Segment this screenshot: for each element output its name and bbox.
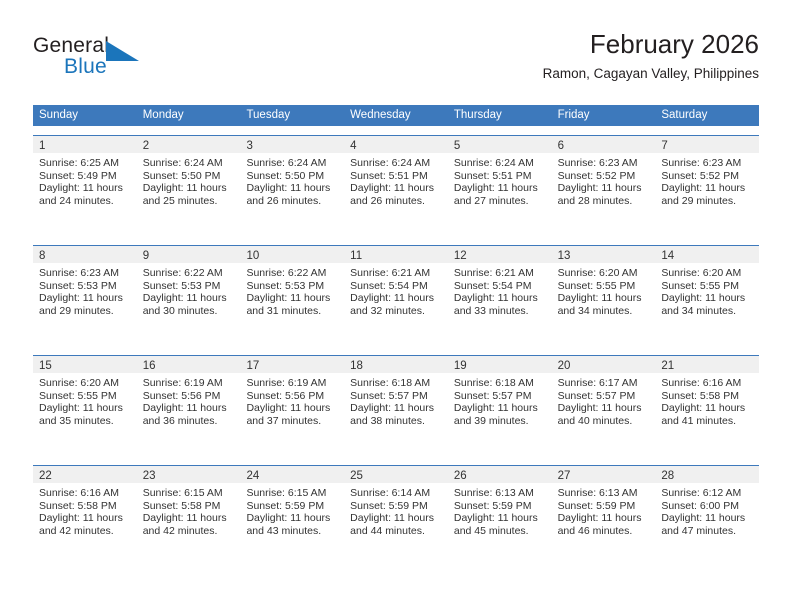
sunrise-text: Sunrise: 6:24 AM <box>246 157 336 170</box>
day-number: 10 <box>246 250 259 262</box>
sunrise-text: Sunrise: 6:19 AM <box>246 377 336 390</box>
title-block: February 2026 Ramon, Cagayan Valley, Phi… <box>543 28 759 84</box>
day-info: Sunrise: 6:20 AM Sunset: 5:55 PM Dayligh… <box>655 263 759 317</box>
day-number: 20 <box>558 360 571 372</box>
day-info: Sunrise: 6:21 AM Sunset: 5:54 PM Dayligh… <box>448 263 552 317</box>
daylight-text: Daylight: 11 hours and 26 minutes. <box>350 182 440 207</box>
sunrise-text: Sunrise: 6:24 AM <box>350 157 440 170</box>
sunset-text: Sunset: 5:51 PM <box>350 170 440 183</box>
calendar-grid: Sunday Monday Tuesday Wednesday Thursday… <box>33 105 759 566</box>
day-info: Sunrise: 6:24 AM Sunset: 5:50 PM Dayligh… <box>137 153 241 207</box>
sunset-text: Sunset: 5:55 PM <box>558 280 648 293</box>
daylight-text: Daylight: 11 hours and 26 minutes. <box>246 182 336 207</box>
sunset-text: Sunset: 5:58 PM <box>143 500 233 513</box>
sunrise-text: Sunrise: 6:19 AM <box>143 377 233 390</box>
sunset-text: Sunset: 5:54 PM <box>350 280 440 293</box>
daylight-text: Daylight: 11 hours and 25 minutes. <box>143 182 233 207</box>
day-number-band: 7 <box>655 136 759 153</box>
day-number-band: 17 <box>240 356 344 373</box>
day-info: Sunrise: 6:24 AM Sunset: 5:51 PM Dayligh… <box>344 153 448 207</box>
day-cell[interactable]: 1 Sunrise: 6:25 AM Sunset: 5:49 PM Dayli… <box>33 136 137 236</box>
weekday-header-tuesday: Tuesday <box>240 105 344 126</box>
day-number-band: 1 <box>33 136 137 153</box>
sunrise-text: Sunrise: 6:17 AM <box>558 377 648 390</box>
day-number-band: 21 <box>655 356 759 373</box>
day-cell[interactable]: 18 Sunrise: 6:18 AM Sunset: 5:57 PM Dayl… <box>344 356 448 456</box>
sunset-text: Sunset: 5:50 PM <box>246 170 336 183</box>
daylight-text: Daylight: 11 hours and 29 minutes. <box>39 292 129 317</box>
day-info: Sunrise: 6:23 AM Sunset: 5:52 PM Dayligh… <box>552 153 656 207</box>
day-info: Sunrise: 6:23 AM Sunset: 5:53 PM Dayligh… <box>33 263 137 317</box>
day-number: 27 <box>558 470 571 482</box>
sunrise-text: Sunrise: 6:24 AM <box>143 157 233 170</box>
daylight-text: Daylight: 11 hours and 46 minutes. <box>558 512 648 537</box>
sunrise-text: Sunrise: 6:23 AM <box>39 267 129 280</box>
daylight-text: Daylight: 11 hours and 43 minutes. <box>246 512 336 537</box>
sunrise-text: Sunrise: 6:20 AM <box>39 377 129 390</box>
day-number: 13 <box>558 250 571 262</box>
daylight-text: Daylight: 11 hours and 44 minutes. <box>350 512 440 537</box>
day-cell[interactable]: 2 Sunrise: 6:24 AM Sunset: 5:50 PM Dayli… <box>137 136 241 236</box>
day-number: 2 <box>143 140 149 152</box>
day-cell[interactable]: 23 Sunrise: 6:15 AM Sunset: 5:58 PM Dayl… <box>137 466 241 566</box>
weekday-header-friday: Friday <box>552 105 656 126</box>
day-number-band: 28 <box>655 466 759 483</box>
day-info: Sunrise: 6:23 AM Sunset: 5:52 PM Dayligh… <box>655 153 759 207</box>
day-cell[interactable]: 6 Sunrise: 6:23 AM Sunset: 5:52 PM Dayli… <box>552 136 656 236</box>
day-number-band: 8 <box>33 246 137 263</box>
day-number-band: 20 <box>552 356 656 373</box>
day-number-band: 26 <box>448 466 552 483</box>
daylight-text: Daylight: 11 hours and 30 minutes. <box>143 292 233 317</box>
sunrise-text: Sunrise: 6:25 AM <box>39 157 129 170</box>
day-cell[interactable]: 16 Sunrise: 6:19 AM Sunset: 5:56 PM Dayl… <box>137 356 241 456</box>
day-number: 18 <box>350 360 363 372</box>
weekday-header-monday: Monday <box>137 105 241 126</box>
sunset-text: Sunset: 5:53 PM <box>246 280 336 293</box>
sunset-text: Sunset: 5:57 PM <box>558 390 648 403</box>
day-cell[interactable]: 13 Sunrise: 6:20 AM Sunset: 5:55 PM Dayl… <box>552 246 656 346</box>
sunset-text: Sunset: 5:52 PM <box>558 170 648 183</box>
sunrise-text: Sunrise: 6:24 AM <box>454 157 544 170</box>
sunrise-text: Sunrise: 6:20 AM <box>558 267 648 280</box>
sunset-text: Sunset: 5:51 PM <box>454 170 544 183</box>
sunrise-text: Sunrise: 6:23 AM <box>558 157 648 170</box>
daylight-text: Daylight: 11 hours and 28 minutes. <box>558 182 648 207</box>
day-cell[interactable]: 3 Sunrise: 6:24 AM Sunset: 5:50 PM Dayli… <box>240 136 344 236</box>
day-number: 28 <box>661 470 674 482</box>
sunrise-text: Sunrise: 6:16 AM <box>39 487 129 500</box>
sunset-text: Sunset: 5:57 PM <box>350 390 440 403</box>
day-number-band: 3 <box>240 136 344 153</box>
day-number: 19 <box>454 360 467 372</box>
daylight-text: Daylight: 11 hours and 42 minutes. <box>143 512 233 537</box>
day-cell[interactable]: 22 Sunrise: 6:16 AM Sunset: 5:58 PM Dayl… <box>33 466 137 566</box>
daylight-text: Daylight: 11 hours and 33 minutes. <box>454 292 544 317</box>
sunset-text: Sunset: 5:58 PM <box>661 390 751 403</box>
calendar-week-row: 1 Sunrise: 6:25 AM Sunset: 5:49 PM Dayli… <box>33 135 759 236</box>
sunset-text: Sunset: 5:54 PM <box>454 280 544 293</box>
day-number: 8 <box>39 250 45 262</box>
day-number-band: 24 <box>240 466 344 483</box>
daylight-text: Daylight: 11 hours and 38 minutes. <box>350 402 440 427</box>
sunrise-text: Sunrise: 6:13 AM <box>454 487 544 500</box>
daylight-text: Daylight: 11 hours and 29 minutes. <box>661 182 751 207</box>
day-cell[interactable]: 20 Sunrise: 6:17 AM Sunset: 5:57 PM Dayl… <box>552 356 656 456</box>
day-info: Sunrise: 6:18 AM Sunset: 5:57 PM Dayligh… <box>344 373 448 427</box>
day-info: Sunrise: 6:17 AM Sunset: 5:57 PM Dayligh… <box>552 373 656 427</box>
day-cell[interactable]: 21 Sunrise: 6:16 AM Sunset: 5:58 PM Dayl… <box>655 356 759 456</box>
day-cell[interactable]: 7 Sunrise: 6:23 AM Sunset: 5:52 PM Dayli… <box>655 136 759 236</box>
day-number-band: 10 <box>240 246 344 263</box>
sunrise-text: Sunrise: 6:16 AM <box>661 377 751 390</box>
day-cell[interactable]: 28 Sunrise: 6:12 AM Sunset: 6:00 PM Dayl… <box>655 466 759 566</box>
day-info: Sunrise: 6:14 AM Sunset: 5:59 PM Dayligh… <box>344 483 448 537</box>
day-info: Sunrise: 6:20 AM Sunset: 5:55 PM Dayligh… <box>552 263 656 317</box>
sunrise-text: Sunrise: 6:20 AM <box>661 267 751 280</box>
sunset-text: Sunset: 5:49 PM <box>39 170 129 183</box>
day-info: Sunrise: 6:19 AM Sunset: 5:56 PM Dayligh… <box>137 373 241 427</box>
sunset-text: Sunset: 5:59 PM <box>246 500 336 513</box>
day-cell[interactable]: 19 Sunrise: 6:18 AM Sunset: 5:57 PM Dayl… <box>448 356 552 456</box>
day-number-band: 6 <box>552 136 656 153</box>
sunrise-text: Sunrise: 6:18 AM <box>350 377 440 390</box>
daylight-text: Daylight: 11 hours and 32 minutes. <box>350 292 440 317</box>
day-number-band: 12 <box>448 246 552 263</box>
day-info: Sunrise: 6:16 AM Sunset: 5:58 PM Dayligh… <box>655 373 759 427</box>
sunrise-text: Sunrise: 6:22 AM <box>246 267 336 280</box>
day-number: 11 <box>350 250 362 262</box>
daylight-text: Daylight: 11 hours and 27 minutes. <box>454 182 544 207</box>
day-number-band: 18 <box>344 356 448 373</box>
sunset-text: Sunset: 5:57 PM <box>454 390 544 403</box>
day-cell[interactable]: 25 Sunrise: 6:14 AM Sunset: 5:59 PM Dayl… <box>344 466 448 566</box>
sunrise-text: Sunrise: 6:12 AM <box>661 487 751 500</box>
sunrise-text: Sunrise: 6:18 AM <box>454 377 544 390</box>
sunset-text: Sunset: 5:50 PM <box>143 170 233 183</box>
day-number: 4 <box>350 140 356 152</box>
day-cell[interactable]: 4 Sunrise: 6:24 AM Sunset: 5:51 PM Dayli… <box>344 136 448 236</box>
daylight-text: Daylight: 11 hours and 35 minutes. <box>39 402 129 427</box>
day-cell[interactable]: 8 Sunrise: 6:23 AM Sunset: 5:53 PM Dayli… <box>33 246 137 346</box>
sunrise-text: Sunrise: 6:21 AM <box>350 267 440 280</box>
daylight-text: Daylight: 11 hours and 36 minutes. <box>143 402 233 427</box>
calendar-week-row: 22 Sunrise: 6:16 AM Sunset: 5:58 PM Dayl… <box>33 465 759 566</box>
calendar-week-row: 8 Sunrise: 6:23 AM Sunset: 5:53 PM Dayli… <box>33 245 759 346</box>
sunrise-text: Sunrise: 6:13 AM <box>558 487 648 500</box>
day-number: 16 <box>143 360 156 372</box>
sunrise-text: Sunrise: 6:15 AM <box>246 487 336 500</box>
day-cell[interactable]: 15 Sunrise: 6:20 AM Sunset: 5:55 PM Dayl… <box>33 356 137 456</box>
day-number-band: 14 <box>655 246 759 263</box>
day-number: 9 <box>143 250 149 262</box>
sunset-text: Sunset: 5:59 PM <box>558 500 648 513</box>
weekday-header-wednesday: Wednesday <box>344 105 448 126</box>
triangle-icon <box>106 41 139 61</box>
sunset-text: Sunset: 5:58 PM <box>39 500 129 513</box>
day-number: 15 <box>39 360 52 372</box>
day-info: Sunrise: 6:20 AM Sunset: 5:55 PM Dayligh… <box>33 373 137 427</box>
day-cell[interactable]: 14 Sunrise: 6:20 AM Sunset: 5:55 PM Dayl… <box>655 246 759 346</box>
day-info: Sunrise: 6:25 AM Sunset: 5:49 PM Dayligh… <box>33 153 137 207</box>
day-cell[interactable]: 10 Sunrise: 6:22 AM Sunset: 5:53 PM Dayl… <box>240 246 344 346</box>
day-info: Sunrise: 6:15 AM Sunset: 5:59 PM Dayligh… <box>240 483 344 537</box>
sunset-text: Sunset: 5:59 PM <box>454 500 544 513</box>
daylight-text: Daylight: 11 hours and 31 minutes. <box>246 292 336 317</box>
sunset-text: Sunset: 5:52 PM <box>661 170 751 183</box>
day-number-band: 16 <box>137 356 241 373</box>
sunset-text: Sunset: 5:53 PM <box>143 280 233 293</box>
day-number: 17 <box>246 360 259 372</box>
weekday-header-sunday: Sunday <box>33 105 137 126</box>
day-cell[interactable]: 24 Sunrise: 6:15 AM Sunset: 5:59 PM Dayl… <box>240 466 344 566</box>
day-number: 25 <box>350 470 363 482</box>
day-number-band: 15 <box>33 356 137 373</box>
daylight-text: Daylight: 11 hours and 24 minutes. <box>39 182 129 207</box>
day-info: Sunrise: 6:15 AM Sunset: 5:58 PM Dayligh… <box>137 483 241 537</box>
day-number: 22 <box>39 470 52 482</box>
sunrise-text: Sunrise: 6:14 AM <box>350 487 440 500</box>
day-number-band: 27 <box>552 466 656 483</box>
day-info: Sunrise: 6:24 AM Sunset: 5:50 PM Dayligh… <box>240 153 344 207</box>
day-number: 23 <box>143 470 156 482</box>
daylight-text: Daylight: 11 hours and 45 minutes. <box>454 512 544 537</box>
day-number-band: 23 <box>137 466 241 483</box>
sunrise-text: Sunrise: 6:15 AM <box>143 487 233 500</box>
day-number-band: 11 <box>344 246 448 263</box>
sunset-text: Sunset: 6:00 PM <box>661 500 751 513</box>
day-number-band: 9 <box>137 246 241 263</box>
day-cell[interactable]: 12 Sunrise: 6:21 AM Sunset: 5:54 PM Dayl… <box>448 246 552 346</box>
day-info: Sunrise: 6:22 AM Sunset: 5:53 PM Dayligh… <box>137 263 241 317</box>
day-info: Sunrise: 6:22 AM Sunset: 5:53 PM Dayligh… <box>240 263 344 317</box>
day-number: 26 <box>454 470 467 482</box>
day-number-band: 13 <box>552 246 656 263</box>
page-header: General Blue February 2026 Ramon, Cagaya… <box>33 28 759 98</box>
weekday-header-thursday: Thursday <box>448 105 552 126</box>
day-info: Sunrise: 6:16 AM Sunset: 5:58 PM Dayligh… <box>33 483 137 537</box>
day-cell[interactable]: 9 Sunrise: 6:22 AM Sunset: 5:53 PM Dayli… <box>137 246 241 346</box>
day-info: Sunrise: 6:24 AM Sunset: 5:51 PM Dayligh… <box>448 153 552 207</box>
sunrise-text: Sunrise: 6:23 AM <box>661 157 751 170</box>
sunset-text: Sunset: 5:56 PM <box>143 390 233 403</box>
calendar-week-row: 15 Sunrise: 6:20 AM Sunset: 5:55 PM Dayl… <box>33 355 759 456</box>
day-number-band: 4 <box>344 136 448 153</box>
page-subtitle: Ramon, Cagayan Valley, Philippines <box>543 64 759 84</box>
day-info: Sunrise: 6:13 AM Sunset: 5:59 PM Dayligh… <box>448 483 552 537</box>
day-number: 24 <box>246 470 259 482</box>
day-info: Sunrise: 6:12 AM Sunset: 6:00 PM Dayligh… <box>655 483 759 537</box>
day-number: 12 <box>454 250 467 262</box>
day-number: 5 <box>454 140 460 152</box>
day-info: Sunrise: 6:18 AM Sunset: 5:57 PM Dayligh… <box>448 373 552 427</box>
sunset-text: Sunset: 5:55 PM <box>39 390 129 403</box>
day-cell[interactable]: 26 Sunrise: 6:13 AM Sunset: 5:59 PM Dayl… <box>448 466 552 566</box>
page-title: February 2026 <box>543 28 759 60</box>
daylight-text: Daylight: 11 hours and 42 minutes. <box>39 512 129 537</box>
day-cell[interactable]: 27 Sunrise: 6:13 AM Sunset: 5:59 PM Dayl… <box>552 466 656 566</box>
daylight-text: Daylight: 11 hours and 47 minutes. <box>661 512 751 537</box>
day-number: 3 <box>246 140 252 152</box>
day-number: 7 <box>661 140 667 152</box>
sunset-text: Sunset: 5:53 PM <box>39 280 129 293</box>
day-number-band: 22 <box>33 466 137 483</box>
day-cell[interactable]: 5 Sunrise: 6:24 AM Sunset: 5:51 PM Dayli… <box>448 136 552 236</box>
daylight-text: Daylight: 11 hours and 41 minutes. <box>661 402 751 427</box>
day-number-band: 25 <box>344 466 448 483</box>
day-cell[interactable]: 11 Sunrise: 6:21 AM Sunset: 5:54 PM Dayl… <box>344 246 448 346</box>
daylight-text: Daylight: 11 hours and 37 minutes. <box>246 402 336 427</box>
general-blue-logo[interactable]: General Blue <box>33 34 293 90</box>
day-info: Sunrise: 6:21 AM Sunset: 5:54 PM Dayligh… <box>344 263 448 317</box>
day-number-band: 5 <box>448 136 552 153</box>
logo-text-blue: Blue <box>64 55 107 79</box>
daylight-text: Daylight: 11 hours and 40 minutes. <box>558 402 648 427</box>
day-number: 14 <box>661 250 674 262</box>
sunset-text: Sunset: 5:56 PM <box>246 390 336 403</box>
daylight-text: Daylight: 11 hours and 34 minutes. <box>661 292 751 317</box>
sunset-text: Sunset: 5:59 PM <box>350 500 440 513</box>
sunset-text: Sunset: 5:55 PM <box>661 280 751 293</box>
day-info: Sunrise: 6:19 AM Sunset: 5:56 PM Dayligh… <box>240 373 344 427</box>
day-number: 21 <box>661 360 674 372</box>
weekday-header-row: Sunday Monday Tuesday Wednesday Thursday… <box>33 105 759 126</box>
day-cell[interactable]: 17 Sunrise: 6:19 AM Sunset: 5:56 PM Dayl… <box>240 356 344 456</box>
daylight-text: Daylight: 11 hours and 34 minutes. <box>558 292 648 317</box>
day-info: Sunrise: 6:13 AM Sunset: 5:59 PM Dayligh… <box>552 483 656 537</box>
sunrise-text: Sunrise: 6:21 AM <box>454 267 544 280</box>
weekday-header-saturday: Saturday <box>655 105 759 126</box>
daylight-text: Daylight: 11 hours and 39 minutes. <box>454 402 544 427</box>
day-number-band: 2 <box>137 136 241 153</box>
day-number: 1 <box>39 140 45 152</box>
calendar-page: General Blue February 2026 Ramon, Cagaya… <box>0 0 792 612</box>
day-number: 6 <box>558 140 564 152</box>
sunrise-text: Sunrise: 6:22 AM <box>143 267 233 280</box>
day-number-band: 19 <box>448 356 552 373</box>
